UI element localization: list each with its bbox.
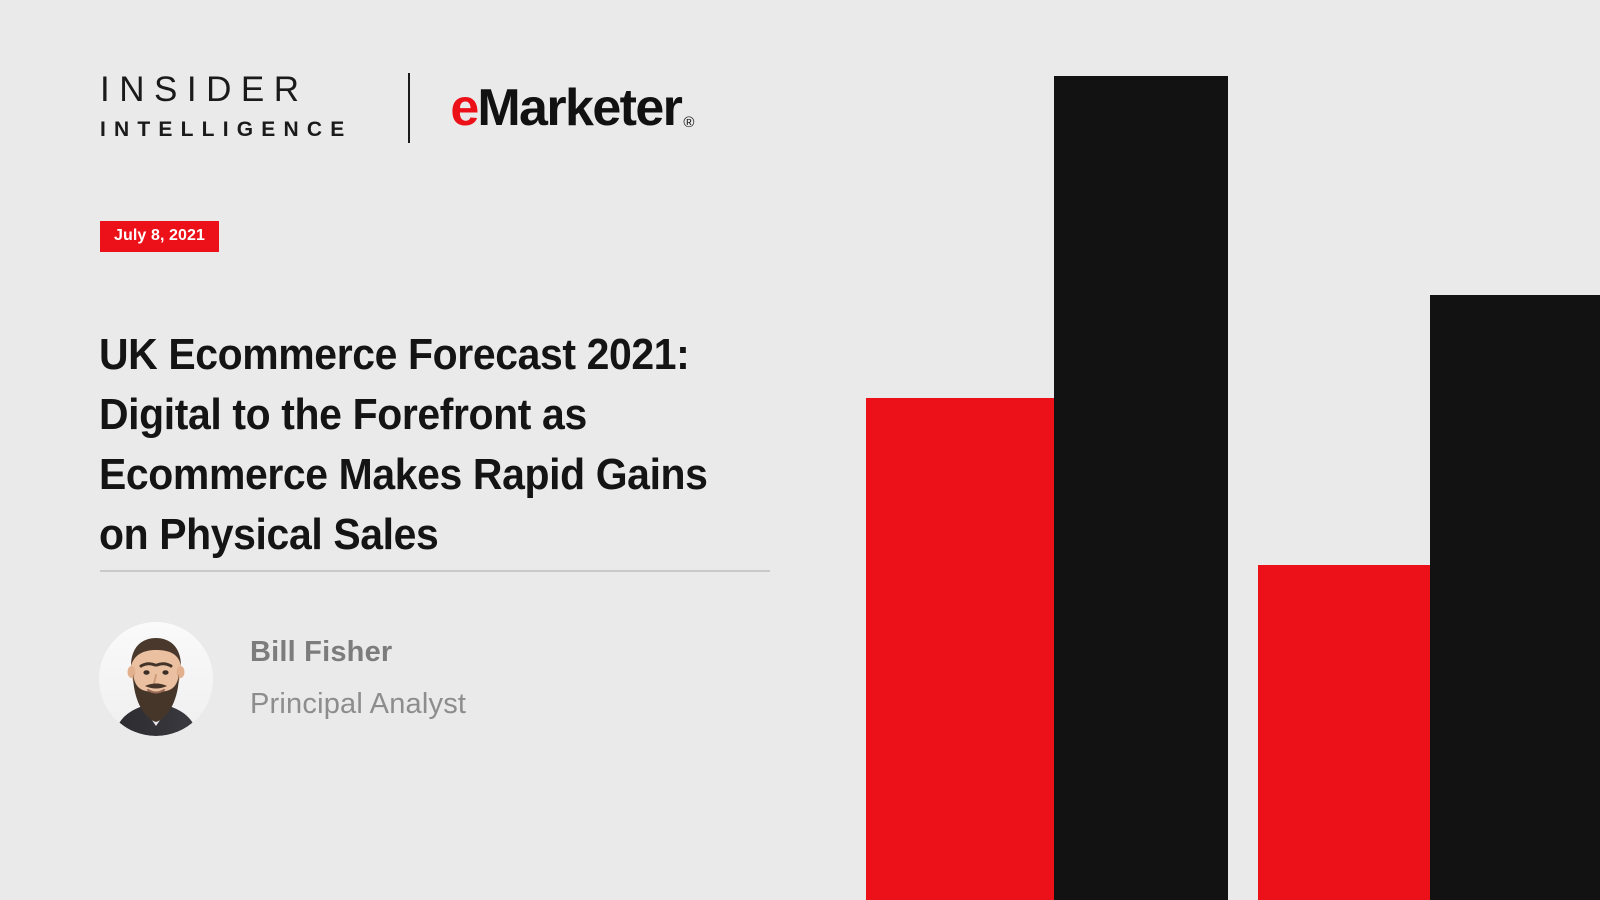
avatar (99, 622, 213, 736)
logo-divider (408, 73, 410, 143)
headline-line-2: Digital to the Forefront as (99, 390, 587, 439)
chart-bar-1 (866, 398, 1054, 900)
insider-intelligence-logo[interactable]: INSIDER INTELLIGENCE (100, 68, 352, 148)
headline-line-3: Ecommerce Makes Rapid Gains (99, 450, 708, 499)
author-name[interactable]: Bill Fisher (250, 637, 466, 669)
chart-bar-4 (1430, 295, 1600, 900)
emarketer-logo[interactable]: e Marketer ® (450, 78, 694, 138)
author-details: Bill Fisher Principal Analyst (250, 637, 466, 721)
registered-trademark-icon: ® (683, 114, 694, 131)
insider-logo-line2: INTELLIGENCE (100, 116, 352, 143)
article-headline: UK Ecommerce Forecast 2021: Digital to t… (99, 325, 750, 565)
emarketer-logo-e: e (450, 78, 477, 138)
brand-logo-lockup[interactable]: INSIDER INTELLIGENCE e Marketer ® (100, 68, 694, 148)
headline-line-4: on Physical Sales (99, 510, 438, 559)
article-hero-card: INSIDER INTELLIGENCE e Marketer ® July 8… (0, 0, 1600, 900)
author-block[interactable]: Bill Fisher Principal Analyst (99, 622, 466, 736)
insider-logo-line1: INSIDER (100, 72, 352, 109)
emarketer-logo-wordmark: Marketer (477, 78, 681, 138)
author-role: Principal Analyst (250, 689, 466, 721)
publish-date-badge: July 8, 2021 (100, 221, 219, 252)
headline-line-1: UK Ecommerce Forecast 2021: (99, 330, 689, 379)
chart-bar-2 (1054, 76, 1228, 900)
section-divider (100, 570, 770, 572)
chart-bar-3 (1258, 565, 1430, 900)
avatar-portrait-icon (99, 622, 213, 736)
